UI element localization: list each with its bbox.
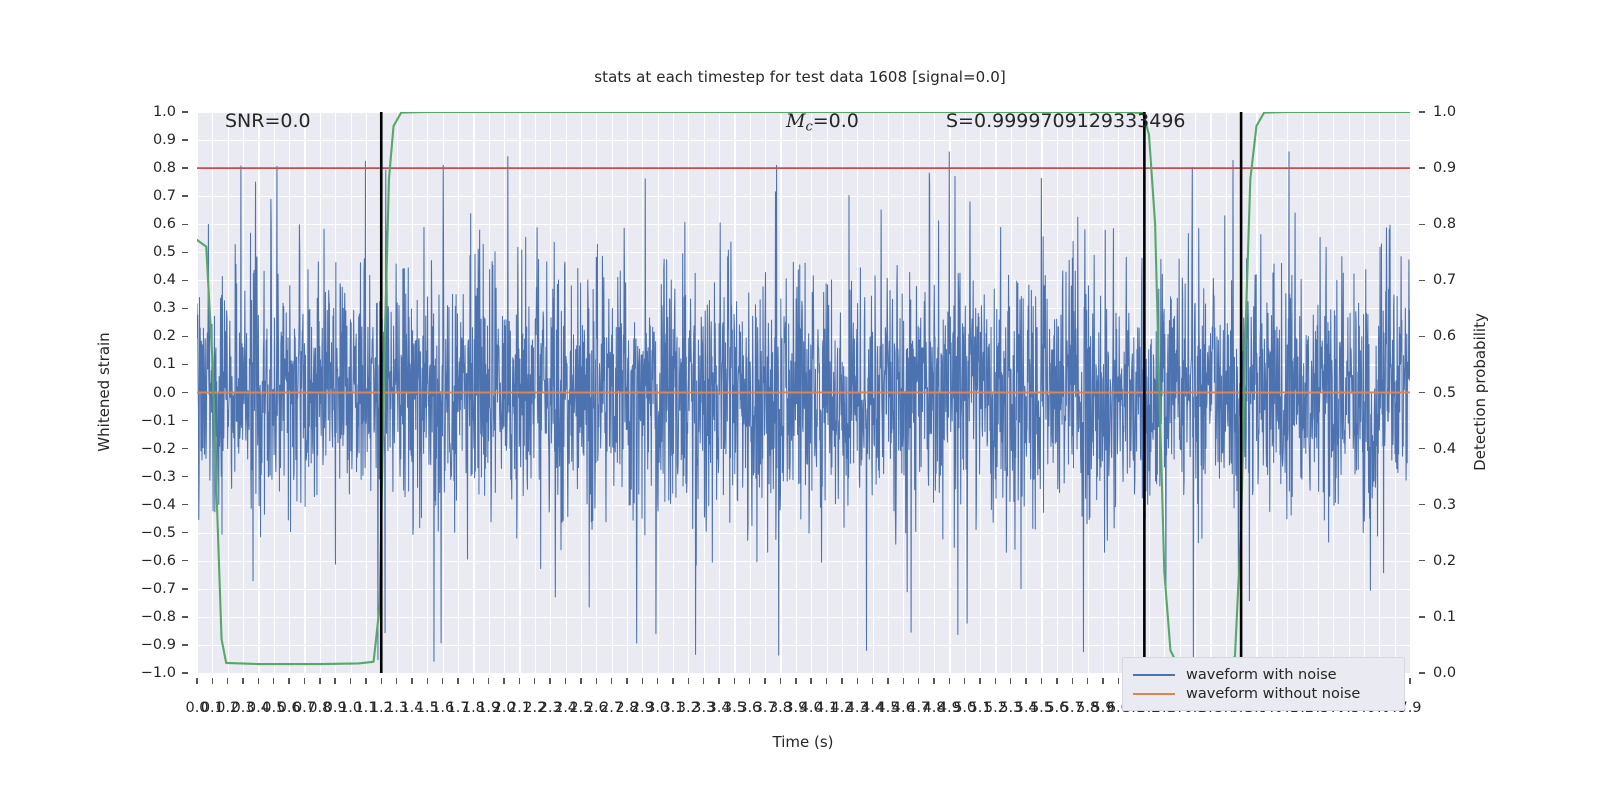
x-axis-tick-mark [780, 678, 781, 684]
y-axis-right-tick-mark [1419, 111, 1425, 112]
x-axis-tick-mark [1102, 678, 1103, 684]
y-axis-left-tick-mark [182, 420, 188, 421]
y-axis-left-tick-mark [182, 280, 188, 281]
y-axis-left-tick-label: 0.1 [153, 356, 176, 372]
y-axis-left-label: Whitened strain [95, 332, 113, 451]
y-axis-left-tick-label: 0.7 [153, 188, 176, 204]
y-axis-right-ticks: 1.00.90.80.70.60.50.40.30.20.10.0 [1419, 112, 1465, 673]
x-axis-tick-mark [964, 678, 965, 684]
x-axis-tick-mark [1118, 678, 1119, 684]
x-axis-tick-mark [365, 678, 366, 684]
y-axis-left-tick-mark [182, 672, 188, 673]
x-axis-tick-mark [212, 678, 213, 684]
x-axis-tick-mark [749, 678, 750, 684]
x-axis-tick-mark [872, 678, 873, 684]
y-axis-right-tick-label: 0.4 [1433, 441, 1456, 457]
x-axis-tick-mark [764, 678, 765, 684]
x-axis-tick-mark [273, 678, 274, 684]
y-axis-right-label: Detection probability [1471, 313, 1489, 471]
x-axis-tick-mark [1010, 678, 1011, 684]
legend-swatch-waveform-with-noise [1133, 674, 1175, 676]
legend-item: waveform with noise [1133, 665, 1394, 684]
annotation-mc-value: =0.0 [813, 112, 859, 132]
figure-canvas: stats at each timestep for test data 160… [0, 0, 1600, 800]
y-axis-left-tick-mark [182, 139, 188, 140]
x-axis-tick-mark [442, 678, 443, 684]
y-axis-right-tick-label: 1.0 [1433, 104, 1456, 120]
chart-title: stats at each timestep for test data 160… [0, 68, 1600, 86]
y-axis-left-tick-label: −0.7 [141, 581, 176, 597]
x-axis-tick-mark [642, 678, 643, 684]
y-axis-left-tick-label: −1.0 [141, 665, 176, 681]
x-axis-tick-mark [534, 678, 535, 684]
y-axis-left-tick-mark [182, 504, 188, 505]
x-axis-tick-mark [596, 678, 597, 684]
x-axis-tick-mark [887, 678, 888, 684]
y-axis-left-tick-label: 0.8 [153, 160, 176, 176]
y-axis-right-tick-mark [1419, 448, 1425, 449]
x-axis-tick-mark [1041, 678, 1042, 684]
annotation-statistic: S=0.9999709129333496 [946, 112, 1186, 132]
y-axis-right-tick-mark [1419, 504, 1425, 505]
legend-item: waveform without noise [1133, 684, 1394, 703]
y-axis-left-tick-mark [182, 616, 188, 617]
x-axis-tick-mark [580, 678, 581, 684]
x-axis-tick-mark [918, 678, 919, 684]
x-axis-tick-mark [1087, 678, 1088, 684]
x-axis-tick-mark [381, 678, 382, 684]
x-axis-tick-mark [672, 678, 673, 684]
y-axis-right-tick-label: 0.3 [1433, 497, 1456, 513]
y-axis-left-tick-label: −0.6 [141, 553, 176, 569]
x-axis-tick-mark [288, 678, 289, 684]
y-axis-right-tick-mark [1419, 336, 1425, 337]
x-axis-tick-mark [196, 678, 197, 684]
y-axis-left-tick-label: −0.1 [141, 413, 176, 429]
y-axis-left-tick-label: 0.2 [153, 328, 176, 344]
x-axis-tick-mark [611, 678, 612, 684]
y-axis-right-tick-mark [1419, 224, 1425, 225]
y-axis-right-tick-label: 0.9 [1433, 160, 1456, 176]
x-axis-tick-mark [1072, 678, 1073, 684]
y-axis-left-tick-label: 0.6 [153, 216, 176, 232]
y-axis-left-tick-mark [182, 644, 188, 645]
x-axis-tick-mark [688, 678, 689, 684]
x-axis-tick-mark [1409, 678, 1410, 684]
y-axis-left-tick-label: −0.8 [141, 609, 176, 625]
x-axis-tick-mark [350, 678, 351, 684]
x-axis-tick-mark [258, 678, 259, 684]
y-axis-right-tick-label: 0.0 [1433, 665, 1456, 681]
x-axis-tick-mark [903, 678, 904, 684]
y-axis-right-tick-label: 0.8 [1433, 216, 1456, 232]
y-axis-right-tick-mark [1419, 616, 1425, 617]
y-axis-right-tick-mark [1419, 167, 1425, 168]
y-axis-left-tick-mark [182, 111, 188, 112]
y-axis-right-tick-mark [1419, 280, 1425, 281]
y-axis-left-tick-label: 1.0 [153, 104, 176, 120]
y-axis-left-tick-mark [182, 448, 188, 449]
y-axis-left-tick-label: 0.3 [153, 300, 176, 316]
x-axis-tick-mark [979, 678, 980, 684]
x-axis-tick-mark [826, 678, 827, 684]
y-axis-left-tick-mark [182, 167, 188, 168]
y-axis-right-tick-label: 0.5 [1433, 385, 1456, 401]
x-axis-tick-mark [734, 678, 735, 684]
x-axis-tick-mark [427, 678, 428, 684]
x-axis-tick-mark [304, 678, 305, 684]
y-axis-left-tick-label: 0.5 [153, 244, 176, 260]
x-axis-tick-mark [549, 678, 550, 684]
x-axis-tick-mark [503, 678, 504, 684]
x-axis-tick-mark [242, 678, 243, 684]
plot-area: SNR=0.0 Mc=0.0 S=0.9999709129333496 [197, 112, 1410, 673]
x-axis-tick-mark [949, 678, 950, 684]
y-axis-left-tick-label: 0.0 [153, 385, 176, 401]
y-axis-right-tick-mark [1419, 392, 1425, 393]
y-axis-left-tick-label: 0.4 [153, 272, 176, 288]
y-axis-left-tick-label: −0.5 [141, 525, 176, 541]
x-axis-tick-mark [334, 678, 335, 684]
y-axis-left-tick-label: −0.9 [141, 637, 176, 653]
y-axis-left-tick-mark [182, 392, 188, 393]
y-axis-left-tick-label: −0.2 [141, 441, 176, 457]
x-axis-tick-mark [995, 678, 996, 684]
y-axis-right-tick-mark [1419, 560, 1425, 561]
y-axis-left-tick-mark [182, 195, 188, 196]
annotation-mc-symbol: M [786, 112, 805, 132]
y-axis-left-tick-mark [182, 532, 188, 533]
y-axis-left-tick-mark [182, 364, 188, 365]
x-axis-tick-mark [703, 678, 704, 684]
y-axis-left-ticks: 1.00.90.80.70.60.50.40.30.20.10.0−0.1−0.… [148, 112, 188, 673]
x-axis-tick-mark [810, 678, 811, 684]
annotation-mc-subscript: c [805, 120, 812, 135]
x-axis-tick-mark [519, 678, 520, 684]
x-axis-tick-mark [657, 678, 658, 684]
y-axis-left-tick-label: 0.9 [153, 132, 176, 148]
y-axis-right-tick-mark [1419, 672, 1425, 673]
y-axis-left-tick-mark [182, 224, 188, 225]
y-axis-left-tick-label: −0.3 [141, 469, 176, 485]
y-axis-right-tick-label: 0.1 [1433, 609, 1456, 625]
annotation-snr: SNR=0.0 [225, 112, 311, 132]
x-axis-tick-mark [626, 678, 627, 684]
annotation-chirp-mass: Mc=0.0 [786, 112, 859, 135]
x-axis-tick-mark [933, 678, 934, 684]
y-axis-left-tick-mark [182, 560, 188, 561]
x-axis-tick-mark [841, 678, 842, 684]
y-axis-right-tick-label: 0.2 [1433, 553, 1456, 569]
x-axis-label: Time (s) [773, 733, 834, 751]
legend-label: waveform with noise [1186, 667, 1337, 683]
x-axis-tick-mark [319, 678, 320, 684]
y-axis-left-tick-label: −0.4 [141, 497, 176, 513]
x-axis-tick-mark [1056, 678, 1057, 684]
probability-series-layer [197, 112, 1410, 673]
x-axis-tick-mark [411, 678, 412, 684]
legend-label: waveform without noise [1186, 686, 1360, 702]
y-axis-right-tick-label: 0.7 [1433, 272, 1456, 288]
x-axis-tick-mark [227, 678, 228, 684]
x-axis-tick-mark [457, 678, 458, 684]
chart-legend: waveform with noise waveform without noi… [1122, 657, 1405, 711]
y-axis-left-tick-mark [182, 476, 188, 477]
x-axis-tick-mark [718, 678, 719, 684]
x-axis-tick-mark [795, 678, 796, 684]
y-axis-left-tick-mark [182, 252, 188, 253]
y-axis-right-tick-label: 0.6 [1433, 328, 1456, 344]
y-axis-left-tick-mark [182, 308, 188, 309]
y-axis-left-tick-mark [182, 588, 188, 589]
x-axis-tick-mark [565, 678, 566, 684]
x-axis-tick-mark [473, 678, 474, 684]
y-axis-left-tick-mark [182, 336, 188, 337]
x-axis-tick-mark [857, 678, 858, 684]
legend-swatch-waveform-without-noise [1133, 693, 1175, 695]
x-axis-tick-mark [488, 678, 489, 684]
x-axis-tick-mark [396, 678, 397, 684]
x-axis-tick-mark [1025, 678, 1026, 684]
